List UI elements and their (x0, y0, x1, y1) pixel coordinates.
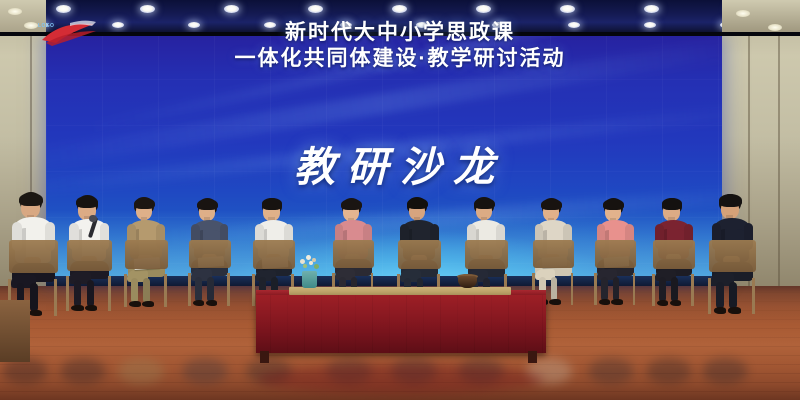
hair-top (474, 198, 495, 209)
chair-back (253, 240, 295, 269)
cloth-fold (423, 295, 424, 353)
chair-leg (54, 279, 57, 316)
cloth-fold (440, 295, 441, 353)
shoe-left (599, 299, 610, 305)
spotlight-icon (736, 10, 750, 17)
chair-back (125, 240, 168, 269)
cloth-fold (270, 295, 271, 353)
stage-photo: LOGO 新时代大中小学思政课 一体化共同体建设·教学研讨活动 教研沙龙 (0, 0, 800, 400)
spotlight-icon (140, 5, 155, 13)
shoe-right (85, 305, 97, 311)
table-leg (260, 351, 269, 363)
shin-right (671, 277, 678, 302)
shin-right (207, 277, 214, 302)
shin-left (131, 278, 138, 303)
flower (314, 264, 319, 269)
hair-top (341, 199, 361, 210)
chair-leg (571, 273, 574, 305)
title-line-2: 一体化共同体建设·教学研讨活动 (0, 45, 800, 72)
stage-plinth (0, 300, 30, 362)
hair-top (134, 198, 155, 209)
cloth-fold (355, 295, 356, 353)
shoe-left (193, 300, 204, 306)
shoe-right (611, 299, 622, 305)
shoe-right (29, 310, 42, 317)
title-line-1: 新时代大中小学思政课 (0, 20, 800, 45)
cloth-fold (338, 295, 339, 353)
flower-vase (302, 271, 317, 288)
shoe-right (206, 300, 217, 306)
cloth-fold (406, 295, 407, 353)
hair-top (662, 198, 683, 209)
hair-top (603, 199, 623, 210)
shin-right (30, 283, 38, 312)
shoe-left (129, 301, 141, 307)
chair-back (189, 240, 231, 269)
chair-back (709, 240, 756, 272)
shin-left (195, 277, 202, 302)
shin-left (74, 280, 81, 307)
spotlight-icon (392, 5, 407, 13)
shoe-left (714, 307, 727, 313)
floor-reflection (258, 364, 544, 394)
screen-title: 新时代大中小学思政课 一体化共同体建设·教学研讨活动 (0, 20, 800, 72)
shin-right (551, 277, 558, 301)
chair-back (533, 240, 575, 268)
chair-leg (124, 274, 127, 307)
shoe-right (142, 301, 154, 307)
chair-leg (66, 276, 69, 311)
shoe-right (549, 299, 560, 305)
shoe-right (728, 307, 741, 313)
person-navy-blazer (186, 198, 232, 360)
spotlight-icon (8, 8, 22, 15)
cloth-fold (491, 295, 492, 353)
chair-back (67, 240, 112, 271)
chair-leg (691, 274, 694, 307)
chair-back (595, 240, 637, 268)
hair-top (197, 199, 218, 210)
hair-top (407, 198, 428, 210)
cloth-fold (457, 295, 458, 353)
shin-left (659, 277, 666, 302)
person-dark-suit-right (706, 194, 757, 374)
shin-right (613, 277, 620, 301)
table-cloth (256, 295, 546, 353)
shoe-left (71, 305, 83, 311)
table-leg (528, 351, 537, 363)
person-maroon-top (650, 198, 696, 361)
shoe-left (657, 300, 669, 306)
floor-reflection (182, 358, 228, 384)
shoe-right (670, 300, 682, 306)
chair-leg (752, 278, 755, 314)
chair-leg (108, 276, 111, 311)
table-legs (256, 351, 546, 363)
cloth-fold (372, 295, 373, 353)
shin-right (729, 282, 736, 310)
microphone-head (89, 215, 96, 222)
chair-back (653, 240, 695, 269)
chair-leg (652, 274, 655, 307)
table-runner (289, 287, 511, 295)
chair-back (333, 240, 375, 268)
spotlight-icon (560, 5, 575, 13)
flower (306, 255, 311, 260)
spotlight-icon (476, 5, 491, 13)
shin-left (601, 277, 608, 301)
chair-leg (188, 273, 191, 305)
hair-top (541, 199, 561, 210)
cloth-fold (508, 295, 509, 353)
cloth-fold (389, 295, 390, 353)
spotlight-icon (224, 5, 239, 13)
calligraphy-text: 教研沙龙 (0, 133, 800, 193)
shin-right (87, 280, 94, 307)
shin-right (143, 278, 150, 303)
flower (303, 264, 307, 268)
chair-leg (633, 273, 636, 305)
cloth-fold (304, 295, 305, 353)
presentation-table (256, 285, 546, 360)
cloth-fold (474, 295, 475, 353)
cloth-fold (287, 295, 288, 353)
spotlight-icon (308, 5, 323, 13)
shin-left (716, 282, 723, 310)
floor-reflection (646, 358, 692, 384)
flower (309, 261, 313, 265)
cloth-fold (542, 295, 543, 353)
person-salmon-jacket (592, 198, 637, 358)
chair-leg (164, 274, 167, 307)
hair-top (719, 194, 742, 206)
spotlight-icon (56, 5, 71, 13)
chair-leg (227, 273, 230, 305)
chair-back (465, 240, 508, 269)
floor-reflection (588, 358, 634, 384)
cloth-fold (321, 295, 322, 353)
chair-leg (252, 274, 255, 307)
spotlight-icon (644, 5, 659, 13)
chair-back (398, 240, 441, 269)
person-tan-jacket (122, 197, 169, 362)
hair-top (262, 198, 283, 209)
hair-top (19, 193, 43, 206)
hair-top (76, 196, 98, 208)
cloth-fold (525, 295, 526, 353)
person-with-microphone (64, 195, 113, 368)
chair-leg (594, 273, 597, 305)
chair-back (9, 240, 58, 273)
chair-leg (708, 278, 711, 314)
